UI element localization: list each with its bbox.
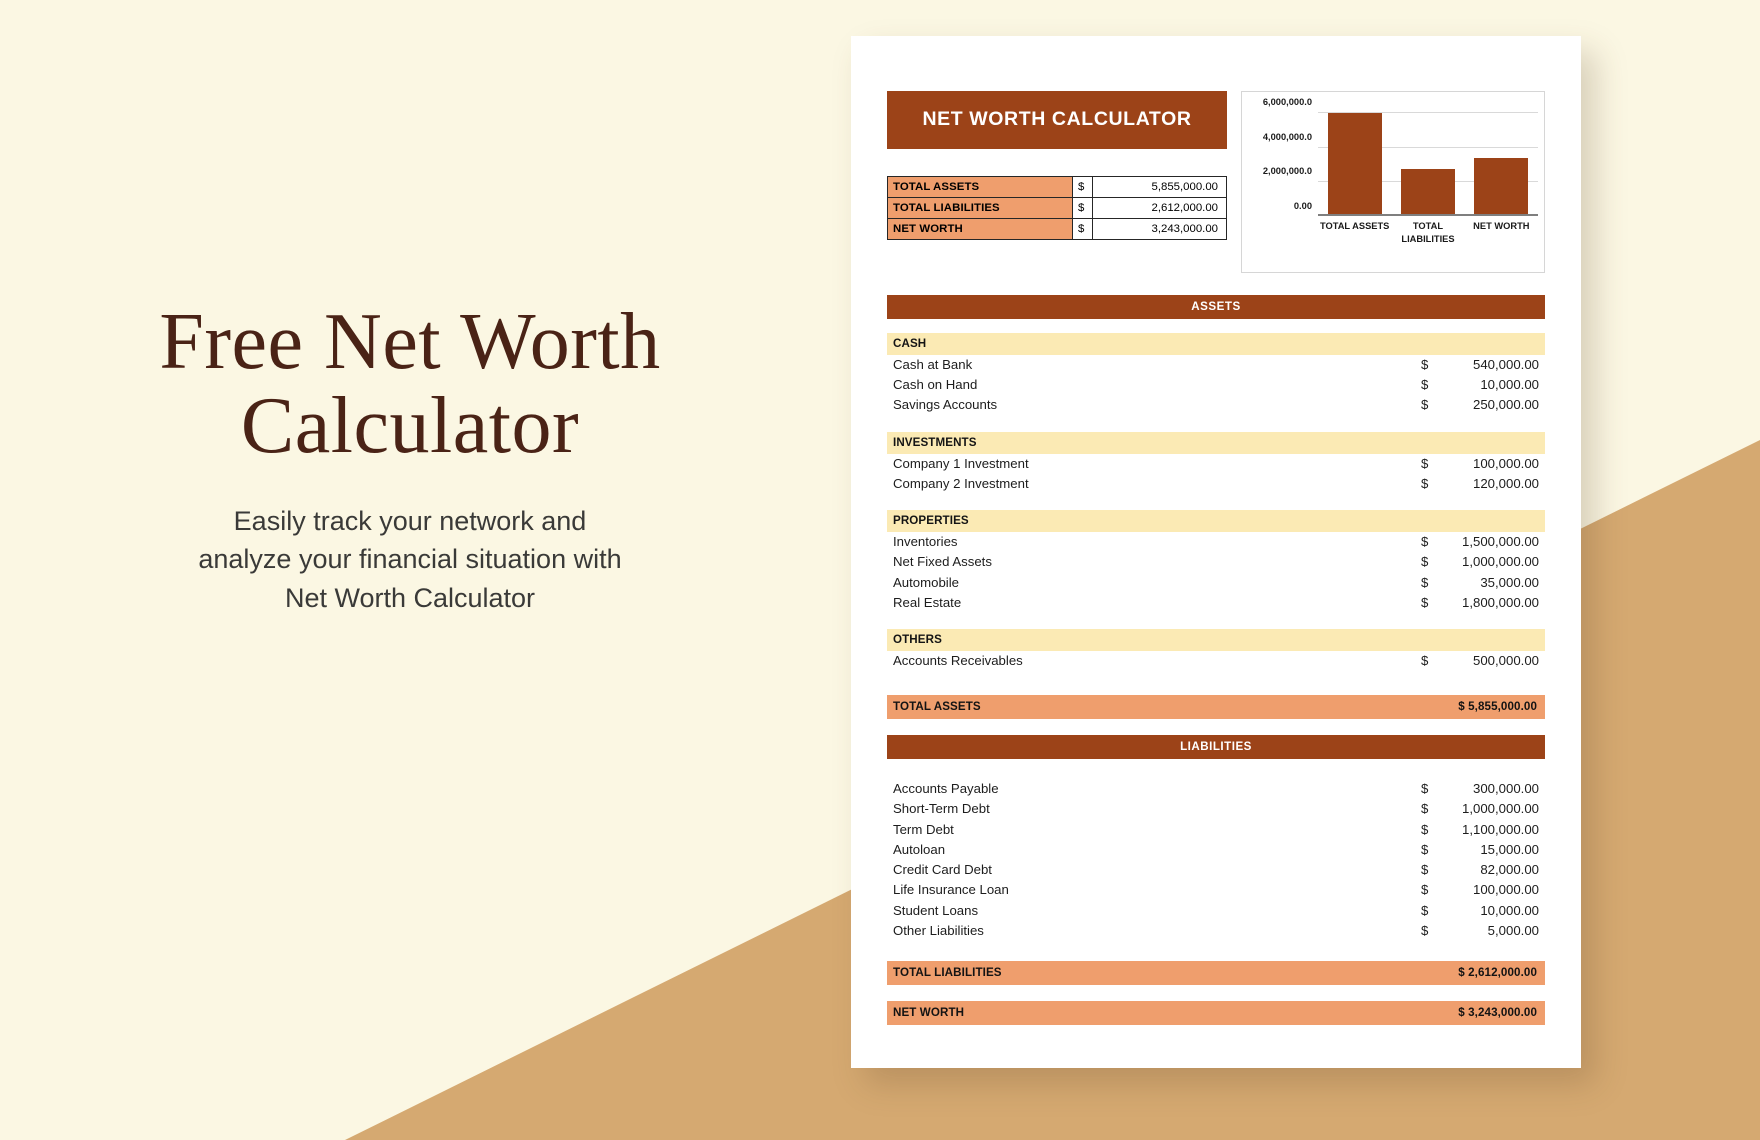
bar-total-assets (1328, 113, 1382, 214)
item-currency: $ (1421, 594, 1437, 612)
item-currency: $ (1421, 396, 1437, 414)
list-item: Savings Accounts $ 250,000.00 (887, 395, 1545, 415)
net-worth-bar-chart: 6,000,000.0 4,000,000.0 2,000,000.0 0.00 (1241, 91, 1545, 273)
table-row: TOTAL ASSETS $ 5,855,000.00 (888, 177, 1227, 198)
item-label: Credit Card Debt (893, 861, 1421, 879)
summary-amount: 5,855,000.00 (1093, 177, 1227, 198)
item-currency: $ (1421, 861, 1437, 879)
item-amount: 1,100,000.00 (1437, 821, 1539, 839)
item-label: Inventories (893, 533, 1421, 551)
page-title: Free Net Worth Calculator (60, 300, 760, 468)
summary-label: TOTAL ASSETS (888, 177, 1073, 198)
chart-y-axis: 6,000,000.0 4,000,000.0 2,000,000.0 0.00 (1242, 102, 1316, 206)
assets-section-banner: ASSETS (887, 295, 1545, 319)
total-assets-row: TOTAL ASSETS $ 5,855,000.00 (887, 695, 1545, 719)
item-currency: $ (1421, 780, 1437, 798)
list-item: Accounts Receivables $ 500,000.00 (887, 651, 1545, 671)
item-label: Accounts Payable (893, 780, 1421, 798)
document-header: NET WORTH CALCULATOR TOTAL ASSETS $ 5,85… (887, 91, 1545, 273)
summary-amount: 3,243,000.00 (1093, 219, 1227, 240)
item-currency: $ (1421, 356, 1437, 374)
item-label: Company 2 Investment (893, 475, 1421, 493)
item-label: Cash at Bank (893, 356, 1421, 374)
item-amount: 35,000.00 (1437, 574, 1539, 592)
item-currency: $ (1421, 821, 1437, 839)
item-currency: $ (1421, 652, 1437, 670)
promo-subtitle-line-3: Net Worth Calculator (60, 579, 760, 617)
spacer (887, 671, 1545, 695)
item-label: Savings Accounts (893, 396, 1421, 414)
item-amount: 120,000.00 (1437, 475, 1539, 493)
summary-label: TOTAL LIABILITIES (888, 198, 1073, 219)
group-header-others: OTHERS (887, 629, 1545, 651)
list-item: Real Estate $ 1,800,000.00 (887, 593, 1545, 613)
bar-total-liabilities (1401, 169, 1455, 214)
spacer (887, 494, 1545, 510)
total-liabilities-amount: $ 2,612,000.00 (1458, 966, 1537, 979)
item-amount: 100,000.00 (1437, 881, 1539, 899)
spacer (887, 319, 1545, 333)
item-currency: $ (1421, 475, 1437, 493)
summary-table-body: TOTAL ASSETS $ 5,855,000.00 TOTAL LIABIL… (888, 177, 1227, 240)
y-tick-label: 2,000,000.0 (1263, 166, 1312, 176)
item-amount: 82,000.00 (1437, 861, 1539, 879)
list-item: Inventories $ 1,500,000.00 (887, 532, 1545, 552)
item-amount: 1,800,000.00 (1437, 594, 1539, 612)
table-row: NET WORTH $ 3,243,000.00 (888, 219, 1227, 240)
item-amount: 15,000.00 (1437, 841, 1539, 859)
item-label: Student Loans (893, 902, 1421, 920)
item-currency: $ (1421, 455, 1437, 473)
group-header-properties: PROPERTIES (887, 510, 1545, 532)
item-amount: 1,000,000.00 (1437, 553, 1539, 571)
total-assets-amount: $ 5,855,000.00 (1458, 700, 1537, 713)
item-amount: 1,000,000.00 (1437, 800, 1539, 818)
item-label: Life Insurance Loan (893, 881, 1421, 899)
chart-x-axis: TOTAL ASSETS TOTAL LIABILITIES NET WORTH (1318, 220, 1538, 245)
total-assets-label: TOTAL ASSETS (893, 700, 1458, 713)
list-item: Accounts Payable $ 300,000.00 (887, 779, 1545, 799)
table-row: TOTAL LIABILITIES $ 2,612,000.00 (888, 198, 1227, 219)
total-liabilities-row: TOTAL LIABILITIES $ 2,612,000.00 (887, 961, 1545, 985)
item-amount: 300,000.00 (1437, 780, 1539, 798)
group-header-cash: CASH (887, 333, 1545, 355)
summary-currency: $ (1073, 198, 1093, 219)
list-item: Term Debt $ 1,100,000.00 (887, 820, 1545, 840)
promo-title-line-1: Free Net Worth (60, 300, 760, 384)
chart-inner: 6,000,000.0 4,000,000.0 2,000,000.0 0.00 (1242, 102, 1540, 268)
promo-subtitle-line-1: Easily track your network and (60, 502, 760, 540)
y-tick-label: 0.00 (1294, 201, 1312, 211)
net-worth-label: NET WORTH (893, 1006, 1458, 1019)
list-item: Company 1 Investment $ 100,000.00 (887, 454, 1545, 474)
list-item: Life Insurance Loan $ 100,000.00 (887, 880, 1545, 900)
net-worth-row: NET WORTH $ 3,243,000.00 (887, 1001, 1545, 1025)
list-item: Short-Term Debt $ 1,000,000.00 (887, 799, 1545, 819)
item-currency: $ (1421, 922, 1437, 940)
item-label: Net Fixed Assets (893, 553, 1421, 571)
item-currency: $ (1421, 376, 1437, 394)
spacer (887, 613, 1545, 629)
liabilities-section-banner: LIABILITIES (887, 735, 1545, 759)
document-title-banner: NET WORTH CALCULATOR (887, 91, 1227, 149)
summary-column: NET WORTH CALCULATOR TOTAL ASSETS $ 5,85… (887, 91, 1227, 240)
list-item: Student Loans $ 10,000.00 (887, 901, 1545, 921)
item-currency: $ (1421, 574, 1437, 592)
promo-subtitle-line-2: analyze your financial situation with (60, 540, 760, 578)
item-currency: $ (1421, 800, 1437, 818)
list-item: Autoloan $ 15,000.00 (887, 840, 1545, 860)
summary-table: TOTAL ASSETS $ 5,855,000.00 TOTAL LIABIL… (887, 176, 1227, 240)
item-currency: $ (1421, 533, 1437, 551)
item-amount: 100,000.00 (1437, 455, 1539, 473)
chart-plot-area (1318, 112, 1538, 216)
spacer (887, 759, 1545, 779)
item-amount: 1,500,000.00 (1437, 533, 1539, 551)
spacer (887, 416, 1545, 432)
summary-currency: $ (1073, 219, 1093, 240)
item-label: Other Liabilities (893, 922, 1421, 940)
spacer (887, 719, 1545, 735)
item-amount: 250,000.00 (1437, 396, 1539, 414)
list-item: Net Fixed Assets $ 1,000,000.00 (887, 552, 1545, 572)
list-item: Cash on Hand $ 10,000.00 (887, 375, 1545, 395)
net-worth-document: NET WORTH CALCULATOR TOTAL ASSETS $ 5,85… (851, 36, 1581, 1068)
list-item: Automobile $ 35,000.00 (887, 573, 1545, 593)
x-tick-label: TOTAL ASSETS (1318, 220, 1391, 245)
summary-amount: 2,612,000.00 (1093, 198, 1227, 219)
item-label: Cash on Hand (893, 376, 1421, 394)
promo-subtitle: Easily track your network and analyze yo… (60, 502, 760, 617)
item-currency: $ (1421, 553, 1437, 571)
list-item: Company 2 Investment $ 120,000.00 (887, 474, 1545, 494)
bar-net-worth (1474, 158, 1528, 214)
item-label: Real Estate (893, 594, 1421, 612)
group-header-investments: INVESTMENTS (887, 432, 1545, 454)
item-currency: $ (1421, 841, 1437, 859)
item-amount: 10,000.00 (1437, 376, 1539, 394)
item-label: Short-Term Debt (893, 800, 1421, 818)
item-currency: $ (1421, 881, 1437, 899)
item-label: Autoloan (893, 841, 1421, 859)
item-label: Accounts Receivables (893, 652, 1421, 670)
spacer (887, 985, 1545, 1001)
item-amount: 10,000.00 (1437, 902, 1539, 920)
item-amount: 540,000.00 (1437, 356, 1539, 374)
x-tick-label: TOTAL LIABILITIES (1391, 220, 1464, 245)
item-label: Company 1 Investment (893, 455, 1421, 473)
spacer (887, 941, 1545, 961)
item-amount: 5,000.00 (1437, 922, 1539, 940)
list-item: Other Liabilities $ 5,000.00 (887, 921, 1545, 941)
summary-currency: $ (1073, 177, 1093, 198)
worksheet: ASSETS CASH Cash at Bank $ 540,000.00 Ca… (887, 295, 1545, 1025)
item-currency: $ (1421, 902, 1437, 920)
promo-title-line-2: Calculator (60, 384, 760, 468)
item-label: Automobile (893, 574, 1421, 592)
net-worth-amount: $ 3,243,000.00 (1458, 1006, 1537, 1019)
summary-label: NET WORTH (888, 219, 1073, 240)
y-tick-label: 4,000,000.0 (1263, 132, 1312, 142)
y-tick-label: 6,000,000.0 (1263, 97, 1312, 107)
promo-panel: Free Net Worth Calculator Easily track y… (60, 300, 760, 617)
list-item: Credit Card Debt $ 82,000.00 (887, 860, 1545, 880)
chart-bars (1318, 112, 1538, 214)
item-amount: 500,000.00 (1437, 652, 1539, 670)
item-label: Term Debt (893, 821, 1421, 839)
list-item: Cash at Bank $ 540,000.00 (887, 355, 1545, 375)
total-liabilities-label: TOTAL LIABILITIES (893, 966, 1458, 979)
x-tick-label: NET WORTH (1465, 220, 1538, 245)
